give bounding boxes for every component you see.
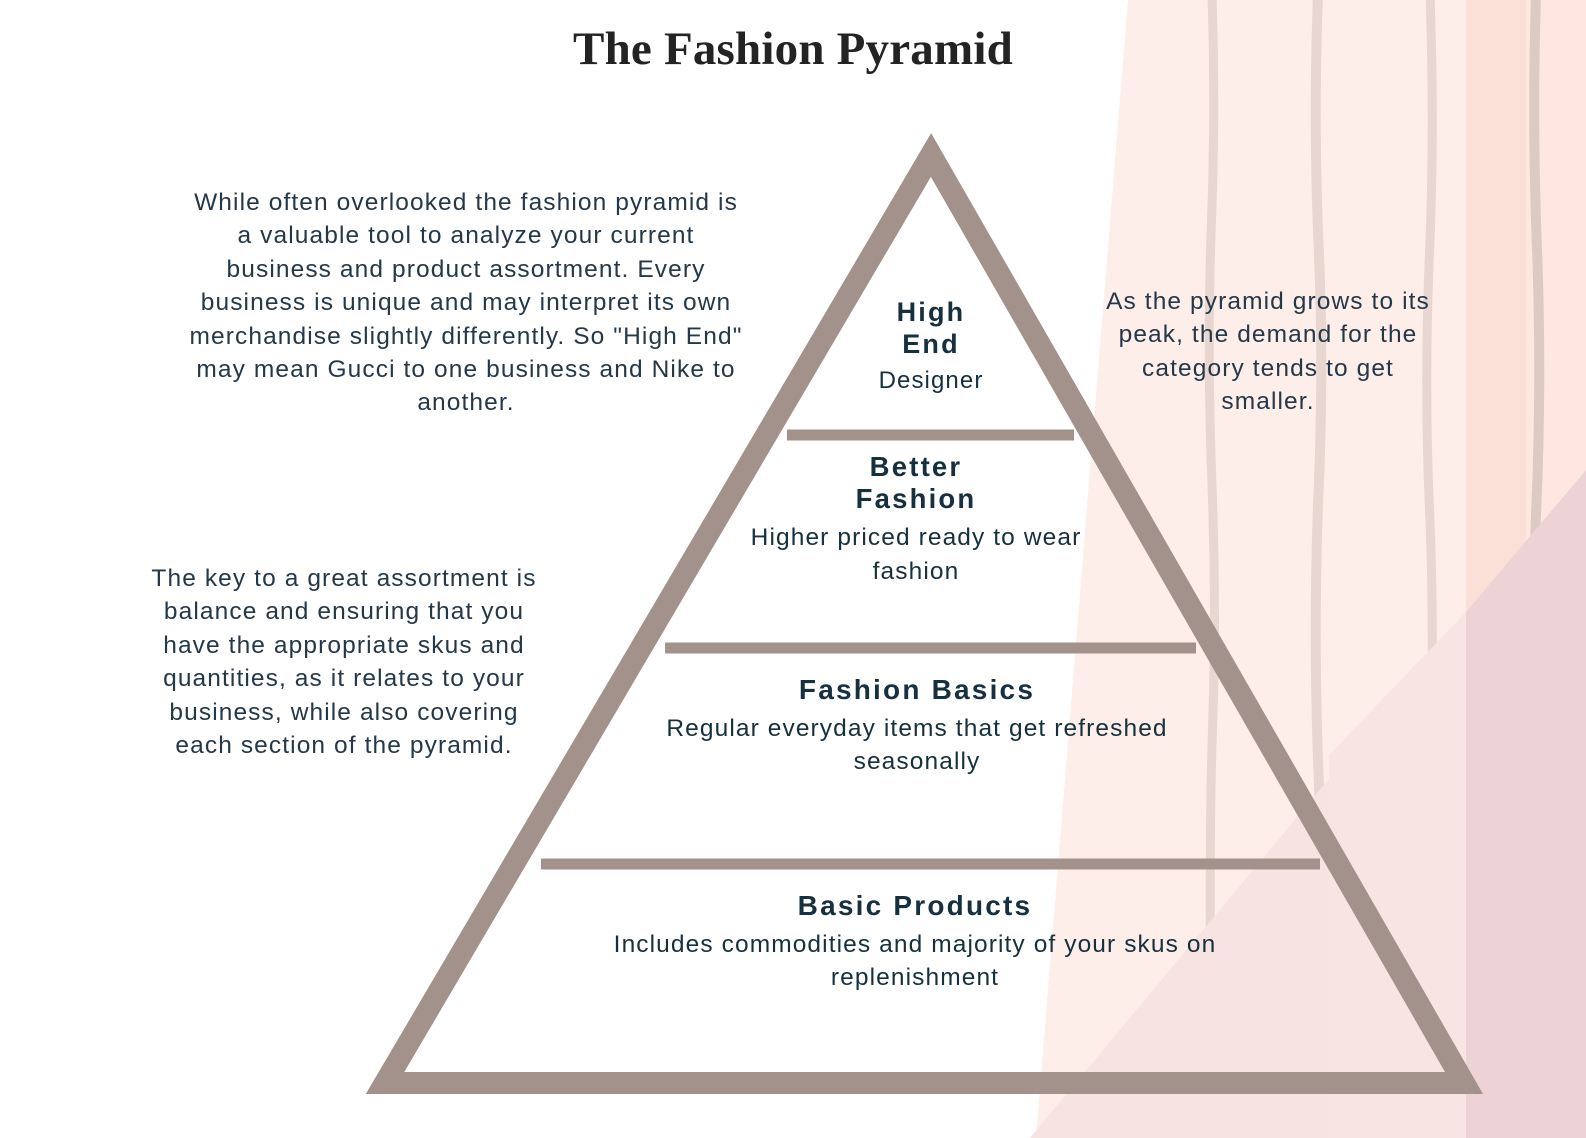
tier-description-fashion-basics: Regular everyday items that get refreshe… bbox=[642, 712, 1192, 778]
note-left-top: While often overlooked the fashion pyram… bbox=[188, 186, 744, 420]
infographic-canvas: The Fashion Pyramid While often overlook… bbox=[0, 0, 1586, 1138]
pyramid-tier-fashion-basics[interactable]: Fashion Basics Regular everyday items th… bbox=[642, 673, 1192, 778]
tier-description-better-fashion: Higher priced ready to wear fashion bbox=[746, 521, 1086, 589]
pyramid-tier-better-fashion[interactable]: Better Fashion Higher priced ready to we… bbox=[746, 451, 1086, 588]
pyramid-tier-high-end[interactable]: High End Designer bbox=[791, 297, 1071, 397]
tier-title-better-fashion: Better Fashion bbox=[746, 451, 1086, 516]
tier-title-basic-products: Basic Products bbox=[570, 889, 1260, 922]
pyramid-tier-basic-products[interactable]: Basic Products Includes commodities and … bbox=[570, 889, 1260, 994]
tier-title-high-end: High End bbox=[791, 297, 1071, 361]
tier-description-basic-products: Includes commodities and majority of you… bbox=[570, 928, 1260, 994]
note-left-bottom: The key to a great assortment is balance… bbox=[142, 562, 546, 762]
tier-title-fashion-basics: Fashion Basics bbox=[642, 673, 1192, 706]
note-right-top: As the pyramid grows to its peak, the de… bbox=[1094, 285, 1442, 419]
tier-description-high-end: Designer bbox=[791, 365, 1071, 397]
